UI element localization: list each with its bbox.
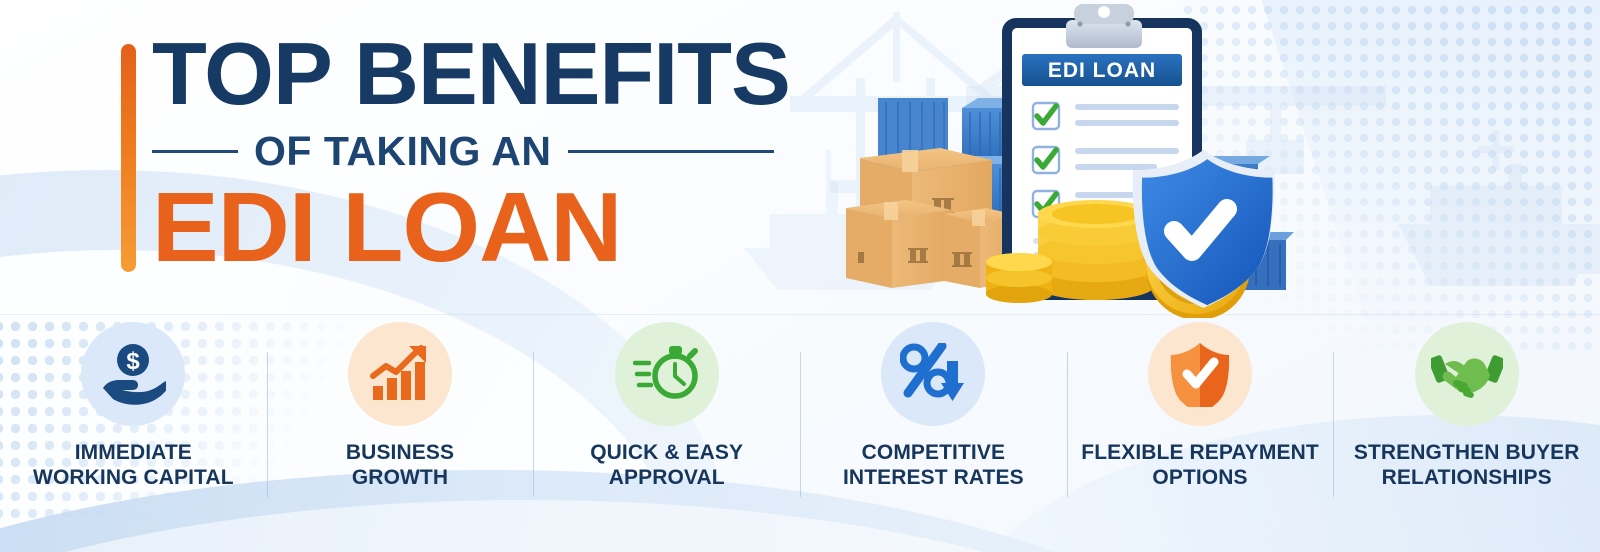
svg-text:$: $	[127, 348, 141, 375]
benefits-row: $ IMMEDIATE WORKING CAPITAL BUSINESS GRO…	[0, 322, 1600, 522]
edi-loan-benefits-banner: EDI LOAN	[0, 0, 1600, 552]
hand-holding-dollar-icon: $	[100, 343, 166, 405]
benefit-quick-easy-approval: QUICK & EASY APPROVAL	[533, 322, 800, 502]
benefit-icon-circle	[1415, 322, 1519, 426]
headline-line-3: EDI LOAN	[152, 178, 621, 276]
handshake-icon	[1431, 348, 1503, 400]
benefit-icon-circle	[615, 322, 719, 426]
edi-loan-illustration: EDI LOAN	[730, 0, 1600, 318]
percent-down-arrow-icon	[900, 343, 966, 405]
growth-chart-arrow-icon	[368, 344, 432, 404]
benefit-icon-circle	[881, 322, 985, 426]
clipboard-clip-icon	[1066, 4, 1142, 48]
benefit-business-growth: BUSINESS GROWTH	[267, 322, 534, 502]
benefit-icon-circle	[348, 322, 452, 426]
headline-line-2: OF TAKING AN	[254, 131, 552, 172]
benefit-icon-circle	[1148, 322, 1252, 426]
headline-block: TOP BENEFITS OF TAKING AN EDI LOAN	[0, 0, 820, 310]
accent-bar	[121, 44, 136, 272]
edi-loan-badge-label: EDI LOAN	[1048, 59, 1156, 82]
benefit-label: FLEXIBLE REPAYMENT OPTIONS	[1081, 440, 1319, 490]
rule-left	[152, 150, 238, 153]
benefit-immediate-working-capital: $ IMMEDIATE WORKING CAPITAL	[0, 322, 267, 502]
benefit-label: STRENGTHEN BUYER RELATIONSHIPS	[1354, 440, 1580, 490]
headline-line-2-row: OF TAKING AN	[152, 128, 774, 174]
benefit-label: COMPETITIVE INTEREST RATES	[843, 440, 1024, 490]
benefit-label: QUICK & EASY APPROVAL	[590, 440, 743, 490]
illustration-svg: EDI LOAN	[730, 0, 1600, 318]
stopwatch-icon	[633, 343, 701, 405]
headline-line-1: TOP BENEFITS	[152, 30, 790, 118]
benefit-strengthen-buyer-relationships: STRENGTHEN BUYER RELATIONSHIPS	[1333, 322, 1600, 502]
benefit-label: IMMEDIATE WORKING CAPITAL	[33, 440, 234, 490]
benefit-label: BUSINESS GROWTH	[346, 440, 454, 490]
benefit-flexible-repayment-options: FLEXIBLE REPAYMENT OPTIONS	[1067, 322, 1334, 502]
cargo-ship-icon	[1398, 130, 1600, 286]
shield-check-icon	[1169, 341, 1231, 407]
benefit-competitive-interest-rates: COMPETITIVE INTEREST RATES	[800, 322, 1067, 502]
rule-right	[568, 150, 774, 153]
benefit-icon-circle: $	[81, 322, 185, 426]
